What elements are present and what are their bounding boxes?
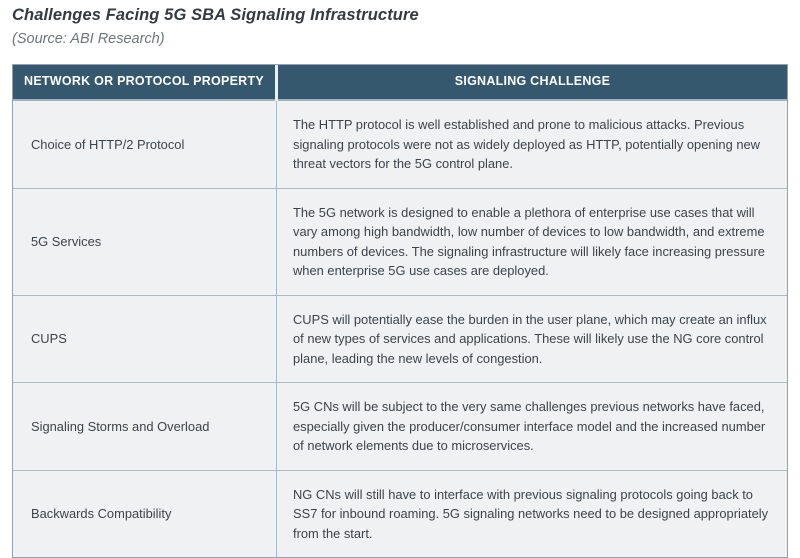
column-header-challenge: SIGNALING CHALLENGE (277, 65, 788, 100)
table-body: Choice of HTTP/2 Protocol The HTTP proto… (13, 100, 787, 557)
table-row: CUPS CUPS will potentially ease the burd… (13, 295, 787, 383)
table-container: NETWORK OR PROTOCOL PROPERTY SIGNALING C… (12, 64, 788, 558)
column-header-property: NETWORK OR PROTOCOL PROPERTY (13, 65, 277, 100)
cell-property: Signaling Storms and Overload (13, 383, 277, 471)
cell-challenge: The HTTP protocol is well established an… (277, 100, 788, 188)
title-block: Challenges Facing 5G SBA Signaling Infra… (12, 4, 788, 50)
challenges-table: NETWORK OR PROTOCOL PROPERTY SIGNALING C… (13, 65, 787, 557)
cell-property: Backwards Compatibility (13, 470, 277, 557)
page-root: Challenges Facing 5G SBA Signaling Infra… (0, 0, 800, 552)
table-row: Choice of HTTP/2 Protocol The HTTP proto… (13, 100, 787, 188)
table-header-row: NETWORK OR PROTOCOL PROPERTY SIGNALING C… (13, 65, 787, 100)
table-row: Backwards Compatibility NG CNs will stil… (13, 470, 787, 557)
cell-property: Choice of HTTP/2 Protocol (13, 100, 277, 188)
cell-property: 5G Services (13, 188, 277, 295)
table-row: 5G Services The 5G network is designed t… (13, 188, 787, 295)
cell-challenge: CUPS will potentially ease the burden in… (277, 295, 788, 383)
cell-challenge: The 5G network is designed to enable a p… (277, 188, 788, 295)
table-header: NETWORK OR PROTOCOL PROPERTY SIGNALING C… (13, 65, 787, 100)
cell-property: CUPS (13, 295, 277, 383)
cell-challenge: 5G CNs will be subject to the very same … (277, 383, 788, 471)
page-title: Challenges Facing 5G SBA Signaling Infra… (12, 4, 788, 26)
table-row: Signaling Storms and Overload 5G CNs wil… (13, 383, 787, 471)
page-subtitle-source: (Source: ABI Research) (12, 29, 788, 50)
cell-challenge: NG CNs will still have to interface with… (277, 470, 788, 557)
